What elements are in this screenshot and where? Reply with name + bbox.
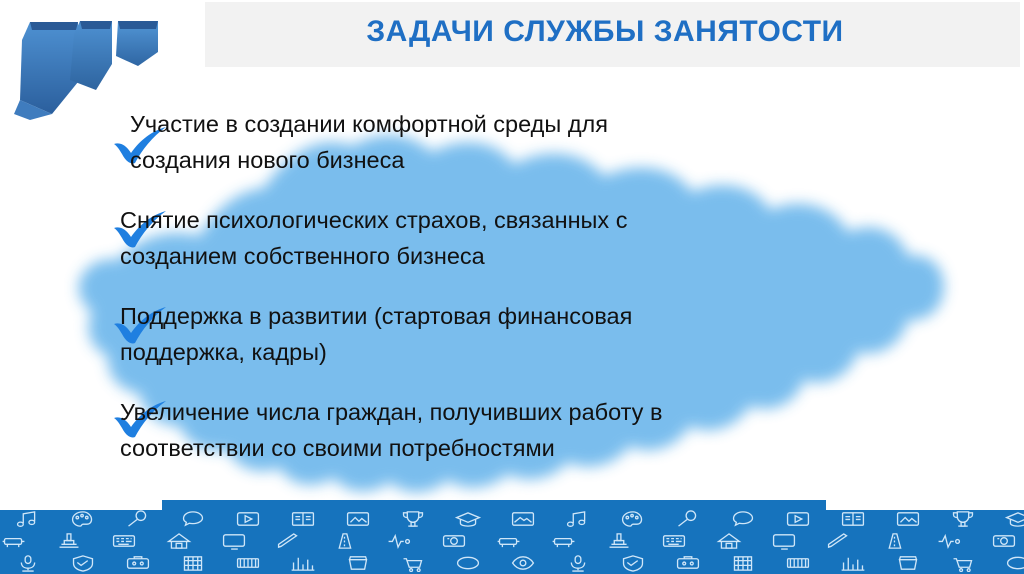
microphone-icon	[0, 552, 55, 574]
camera-icon	[426, 530, 481, 552]
video-player-icon	[770, 508, 825, 530]
building-icon	[165, 552, 220, 574]
checkmark-icon	[0, 104, 120, 166]
bar-chart-icon	[275, 552, 330, 574]
pulse-icon	[371, 530, 426, 552]
pulse-icon	[921, 530, 976, 552]
toolbox-icon	[660, 552, 715, 574]
presentation-slide: ЗАДАЧИ СЛУЖБЫ ЗАНЯТОСТИ	[0, 0, 1024, 574]
cart-icon	[385, 552, 440, 574]
footer-icon-row	[0, 530, 1024, 552]
checkmark-icon	[0, 392, 120, 440]
open-book-icon	[275, 508, 330, 530]
graduation-cap-icon	[990, 508, 1024, 530]
open-book-icon	[825, 508, 880, 530]
magnifier-icon	[660, 508, 715, 530]
keyboard-icon	[646, 530, 701, 552]
checkmark-icon	[0, 200, 120, 250]
list-item-text: Поддержка в развитии (стартовая финансов…	[120, 296, 1024, 370]
shield-icon	[605, 552, 660, 574]
footer-icon-grid	[0, 508, 1024, 574]
list-item-text: Снятие психологических страхов, связанны…	[120, 200, 1024, 274]
road-icon	[866, 530, 921, 552]
checkmark-icon	[0, 296, 120, 346]
list-item: Увеличение числа граждан, получивших раб…	[0, 392, 1024, 466]
eye-icon	[495, 552, 550, 574]
building-icon	[715, 552, 770, 574]
list-item: Снятие психологических страхов, связанны…	[0, 200, 1024, 274]
trophy-icon	[935, 508, 990, 530]
ellipse-icon	[990, 552, 1024, 574]
bullet-list: Участие в создании комфортной среды для …	[0, 104, 1024, 488]
list-item-line-2: соответствии со своими потребностями	[120, 430, 944, 466]
pencil-icon	[261, 530, 316, 552]
music-note-icon	[550, 508, 605, 530]
video-player-icon	[220, 508, 275, 530]
list-item-line-1: Увеличение числа граждан, получивших раб…	[120, 394, 944, 430]
footer-icon-strip	[0, 500, 1024, 574]
photo-frame-icon	[880, 508, 935, 530]
house-icon	[151, 530, 206, 552]
palette-icon	[55, 508, 110, 530]
list-item-line-2: созданием собственного бизнеса	[120, 238, 944, 274]
monitor-icon	[756, 530, 811, 552]
list-item-line-1: Поддержка в развитии (стартовая финансов…	[120, 298, 944, 334]
microscope-icon	[41, 530, 96, 552]
monitor-icon	[206, 530, 261, 552]
list-item-text: Участие в создании комфортной среды для …	[120, 104, 1024, 178]
list-item-line-2: создания нового бизнеса	[130, 142, 944, 178]
basket-icon	[330, 552, 385, 574]
palette-icon	[605, 508, 660, 530]
cart-icon	[935, 552, 990, 574]
list-item-text: Увеличение числа граждан, получивших раб…	[120, 392, 1024, 466]
list-item-line-2: поддержка, кадры)	[120, 334, 944, 370]
camera-icon	[976, 530, 1024, 552]
landscape-photo-icon	[495, 508, 550, 530]
corporate-chevron-logo	[8, 4, 178, 120]
speech-bubble-icon	[715, 508, 770, 530]
projector-icon	[481, 530, 536, 552]
microphone-icon	[550, 552, 605, 574]
house-icon	[701, 530, 756, 552]
music-note-icon	[0, 508, 55, 530]
shield-icon	[55, 552, 110, 574]
trophy-icon	[385, 508, 440, 530]
list-item: Участие в создании комфортной среды для …	[0, 104, 1024, 178]
bar-chart-icon	[825, 552, 880, 574]
footer-icon-row	[0, 508, 1024, 530]
graduation-cap-icon	[440, 508, 495, 530]
ellipse-icon	[440, 552, 495, 574]
basket-icon	[880, 552, 935, 574]
magnifier-icon	[110, 508, 165, 530]
keyboard-icon	[96, 530, 151, 552]
road-icon	[316, 530, 371, 552]
list-item: Поддержка в развитии (стартовая финансов…	[0, 296, 1024, 370]
film-strip-icon	[770, 552, 825, 574]
list-item-line-1: Снятие психологических страхов, связанны…	[120, 202, 944, 238]
list-item-line-1: Участие в создании комфортной среды для	[130, 106, 944, 142]
projector-icon	[0, 530, 41, 552]
pencil-icon	[811, 530, 866, 552]
toolbox-icon	[110, 552, 165, 574]
footer-icon-row	[0, 552, 1024, 574]
page-title: ЗАДАЧИ СЛУЖБЫ ЗАНЯТОСТИ	[205, 8, 1005, 56]
photo-frame-icon	[330, 508, 385, 530]
microscope-icon	[591, 530, 646, 552]
speech-bubble-icon	[165, 508, 220, 530]
projector-icon	[536, 530, 591, 552]
film-strip-icon	[220, 552, 275, 574]
